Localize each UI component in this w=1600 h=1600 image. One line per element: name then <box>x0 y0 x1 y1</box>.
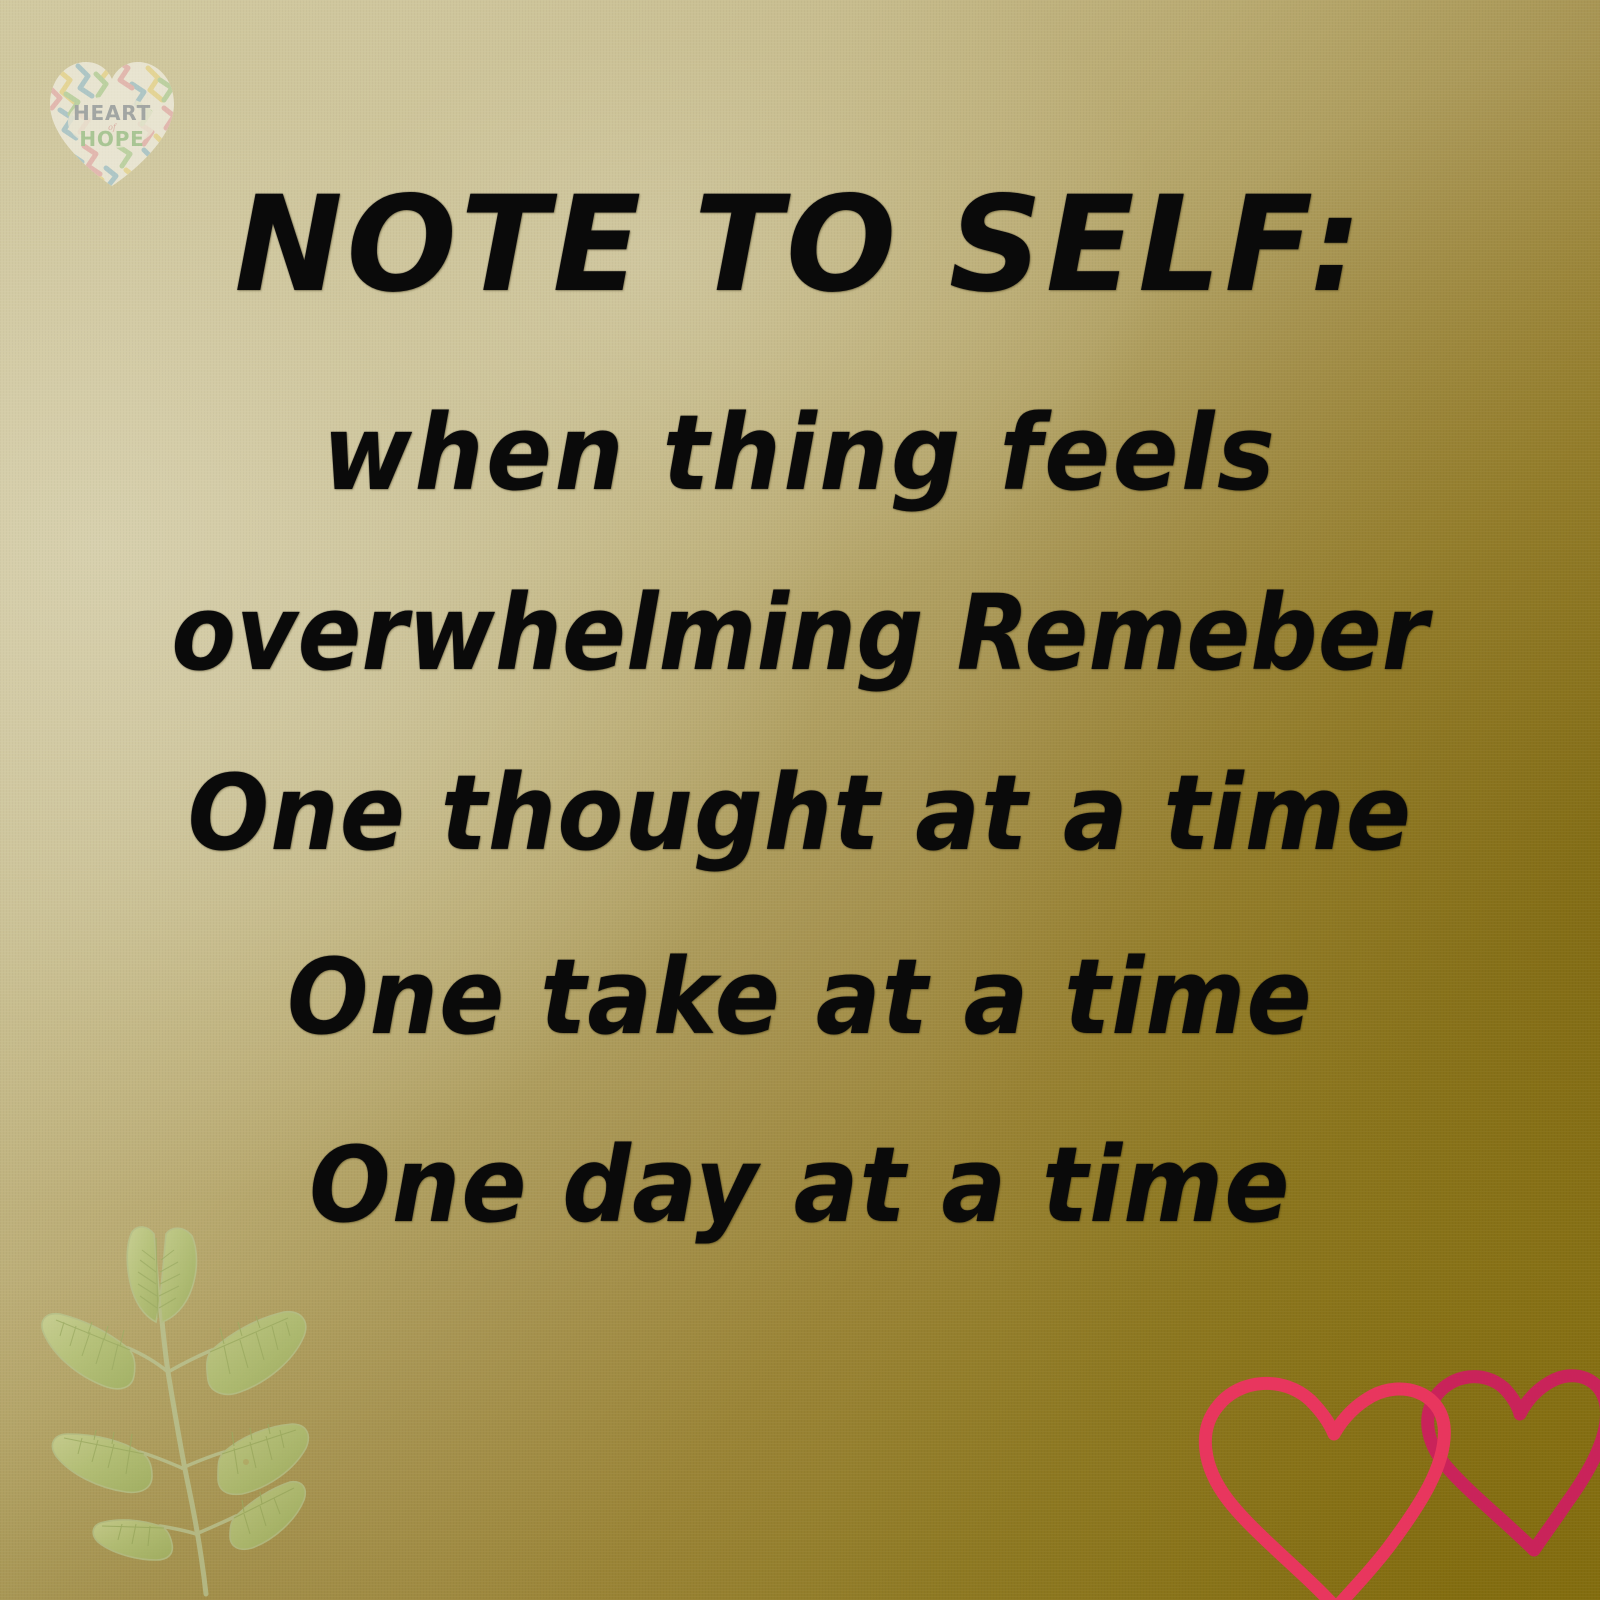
leaflet <box>207 1312 306 1395</box>
heart-outline-back <box>1428 1376 1600 1550</box>
leaflet <box>127 1227 196 1322</box>
heart-outline-front <box>1205 1383 1444 1600</box>
compound-leaf-decoration <box>16 1222 356 1600</box>
logo-line2-label: HOPE <box>79 127 144 151</box>
leaflet <box>93 1520 172 1560</box>
interlocking-hearts-decoration <box>1168 1296 1600 1600</box>
leaflet <box>42 1314 135 1389</box>
heart-of-hope-logo: HEART of HOPE <box>44 50 180 190</box>
logo-line1-label: HEART <box>73 101 151 125</box>
poster-canvas: HEART of HOPE NOTE TO SELF: when thing f… <box>0 0 1600 1600</box>
leaflet <box>52 1430 152 1492</box>
